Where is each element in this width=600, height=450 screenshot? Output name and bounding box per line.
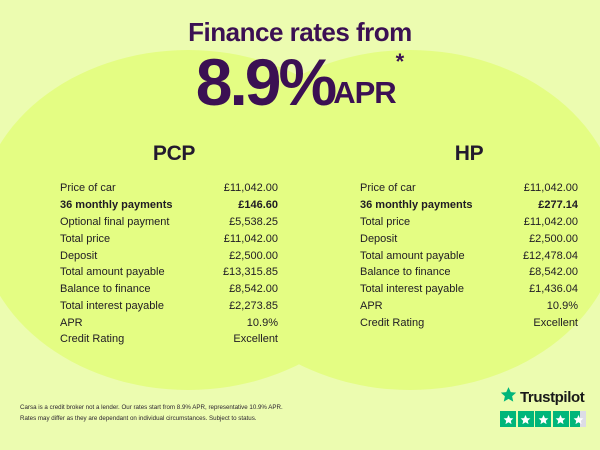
- row-label: Balance to finance: [60, 281, 206, 298]
- table-row: Price of car£11,042.00: [60, 180, 278, 197]
- row-label: Credit Rating: [60, 331, 206, 348]
- table-row: Total amount payable£13,315.85: [60, 264, 278, 281]
- finance-columns: PCP Price of car£11,042.0036 monthly pay…: [0, 142, 600, 348]
- pcp-table: Price of car£11,042.0036 monthly payment…: [60, 180, 278, 348]
- table-row: APR10.9%: [60, 314, 278, 331]
- table-row: Price of car£11,042.00: [360, 180, 578, 197]
- star-filled-icon: [553, 411, 569, 427]
- row-label: Credit Rating: [360, 314, 506, 331]
- table-row: Total price£11,042.00: [60, 230, 278, 247]
- disclaimer-text: Carsa is a credit broker not a lender. O…: [20, 403, 350, 425]
- table-row: Optional final payment£5,538.25: [60, 214, 278, 231]
- row-value: Excellent: [506, 314, 578, 331]
- row-value: £2,273.85: [206, 297, 278, 314]
- row-value: £11,042.00: [206, 230, 278, 247]
- table-row: APR10.9%: [360, 297, 578, 314]
- row-label: Total interest payable: [360, 281, 506, 298]
- row-value: 10.9%: [506, 297, 578, 314]
- table-row: Total interest payable£2,273.85: [60, 297, 278, 314]
- row-label: Total price: [60, 230, 206, 247]
- disclaimer-line-2: Rates may differ as they are dependant o…: [20, 414, 350, 425]
- pcp-title: PCP: [60, 142, 278, 166]
- table-row: 36 monthly payments£277.14: [360, 197, 578, 214]
- row-value: £12,478.04: [506, 247, 578, 264]
- row-value: £8,542.00: [506, 264, 578, 281]
- row-value: £11,042.00: [206, 180, 278, 197]
- row-value: £1,436.04: [506, 281, 578, 298]
- hp-table: Price of car£11,042.0036 monthly payment…: [360, 180, 578, 331]
- table-row: Credit RatingExcellent: [360, 314, 578, 331]
- row-label: Balance to finance: [360, 264, 506, 281]
- row-value: £277.14: [506, 197, 578, 214]
- row-value: £146.60: [206, 197, 278, 214]
- star-filled-icon: [518, 411, 534, 427]
- rate-unit: APR: [333, 75, 395, 110]
- row-value: £2,500.00: [206, 247, 278, 264]
- row-label: APR: [60, 314, 206, 331]
- star-partial-icon: [570, 411, 586, 427]
- table-row: Balance to finance£8,542.00: [60, 281, 278, 298]
- disclaimer-line-1: Carsa is a credit broker not a lender. O…: [20, 403, 350, 414]
- trustpilot-name: Trustpilot: [520, 389, 584, 406]
- table-row: Deposit£2,500.00: [360, 230, 578, 247]
- star-filled-icon: [535, 411, 551, 427]
- row-label: Price of car: [360, 180, 506, 197]
- row-label: Total price: [360, 214, 506, 231]
- row-label: Price of car: [60, 180, 206, 197]
- row-value: £8,542.00: [206, 281, 278, 298]
- table-row: Total price£11,042.00: [360, 214, 578, 231]
- row-label: Total amount payable: [360, 247, 506, 264]
- rate-asterisk: *: [396, 49, 405, 74]
- row-value: £11,042.00: [506, 214, 578, 231]
- trustpilot-wordmark: Trustpilot: [500, 386, 586, 408]
- rate-value: 8.9%: [196, 45, 334, 119]
- table-row: Balance to finance£8,542.00: [360, 264, 578, 281]
- rate-headline: 8.9%APR*: [0, 47, 600, 115]
- finance-column-pcp: PCP Price of car£11,042.0036 monthly pay…: [0, 142, 300, 348]
- row-label: Total amount payable: [60, 264, 206, 281]
- row-label: Total interest payable: [60, 297, 206, 314]
- table-row: Total amount payable£12,478.04: [360, 247, 578, 264]
- row-label: Deposit: [360, 230, 506, 247]
- row-label: 36 monthly payments: [360, 197, 506, 214]
- finance-rates-poster: Finance rates from 8.9%APR* PCP Price of…: [0, 0, 600, 450]
- row-value: Excellent: [206, 331, 278, 348]
- row-label: 36 monthly payments: [60, 197, 206, 214]
- row-label: APR: [360, 297, 506, 314]
- row-value: £5,538.25: [206, 214, 278, 231]
- finance-column-hp: HP Price of car£11,042.0036 monthly paym…: [300, 142, 600, 348]
- row-value: £2,500.00: [506, 230, 578, 247]
- page-title: Finance rates from: [0, 0, 600, 47]
- hp-title: HP: [360, 142, 578, 166]
- trustpilot-star-rating: [500, 411, 586, 427]
- table-row: Deposit£2,500.00: [60, 247, 278, 264]
- row-label: Deposit: [60, 247, 206, 264]
- table-row: 36 monthly payments£146.60: [60, 197, 278, 214]
- star-filled-icon: [500, 411, 516, 427]
- row-value: £13,315.85: [206, 264, 278, 281]
- trustpilot-badge[interactable]: Trustpilot: [500, 386, 586, 427]
- row-label: Optional final payment: [60, 214, 206, 231]
- row-value: 10.9%: [206, 314, 278, 331]
- trustpilot-star-icon: [500, 386, 517, 408]
- row-value: £11,042.00: [506, 180, 578, 197]
- table-row: Credit RatingExcellent: [60, 331, 278, 348]
- table-row: Total interest payable£1,436.04: [360, 281, 578, 298]
- poster-header: Finance rates from 8.9%APR*: [0, 0, 600, 115]
